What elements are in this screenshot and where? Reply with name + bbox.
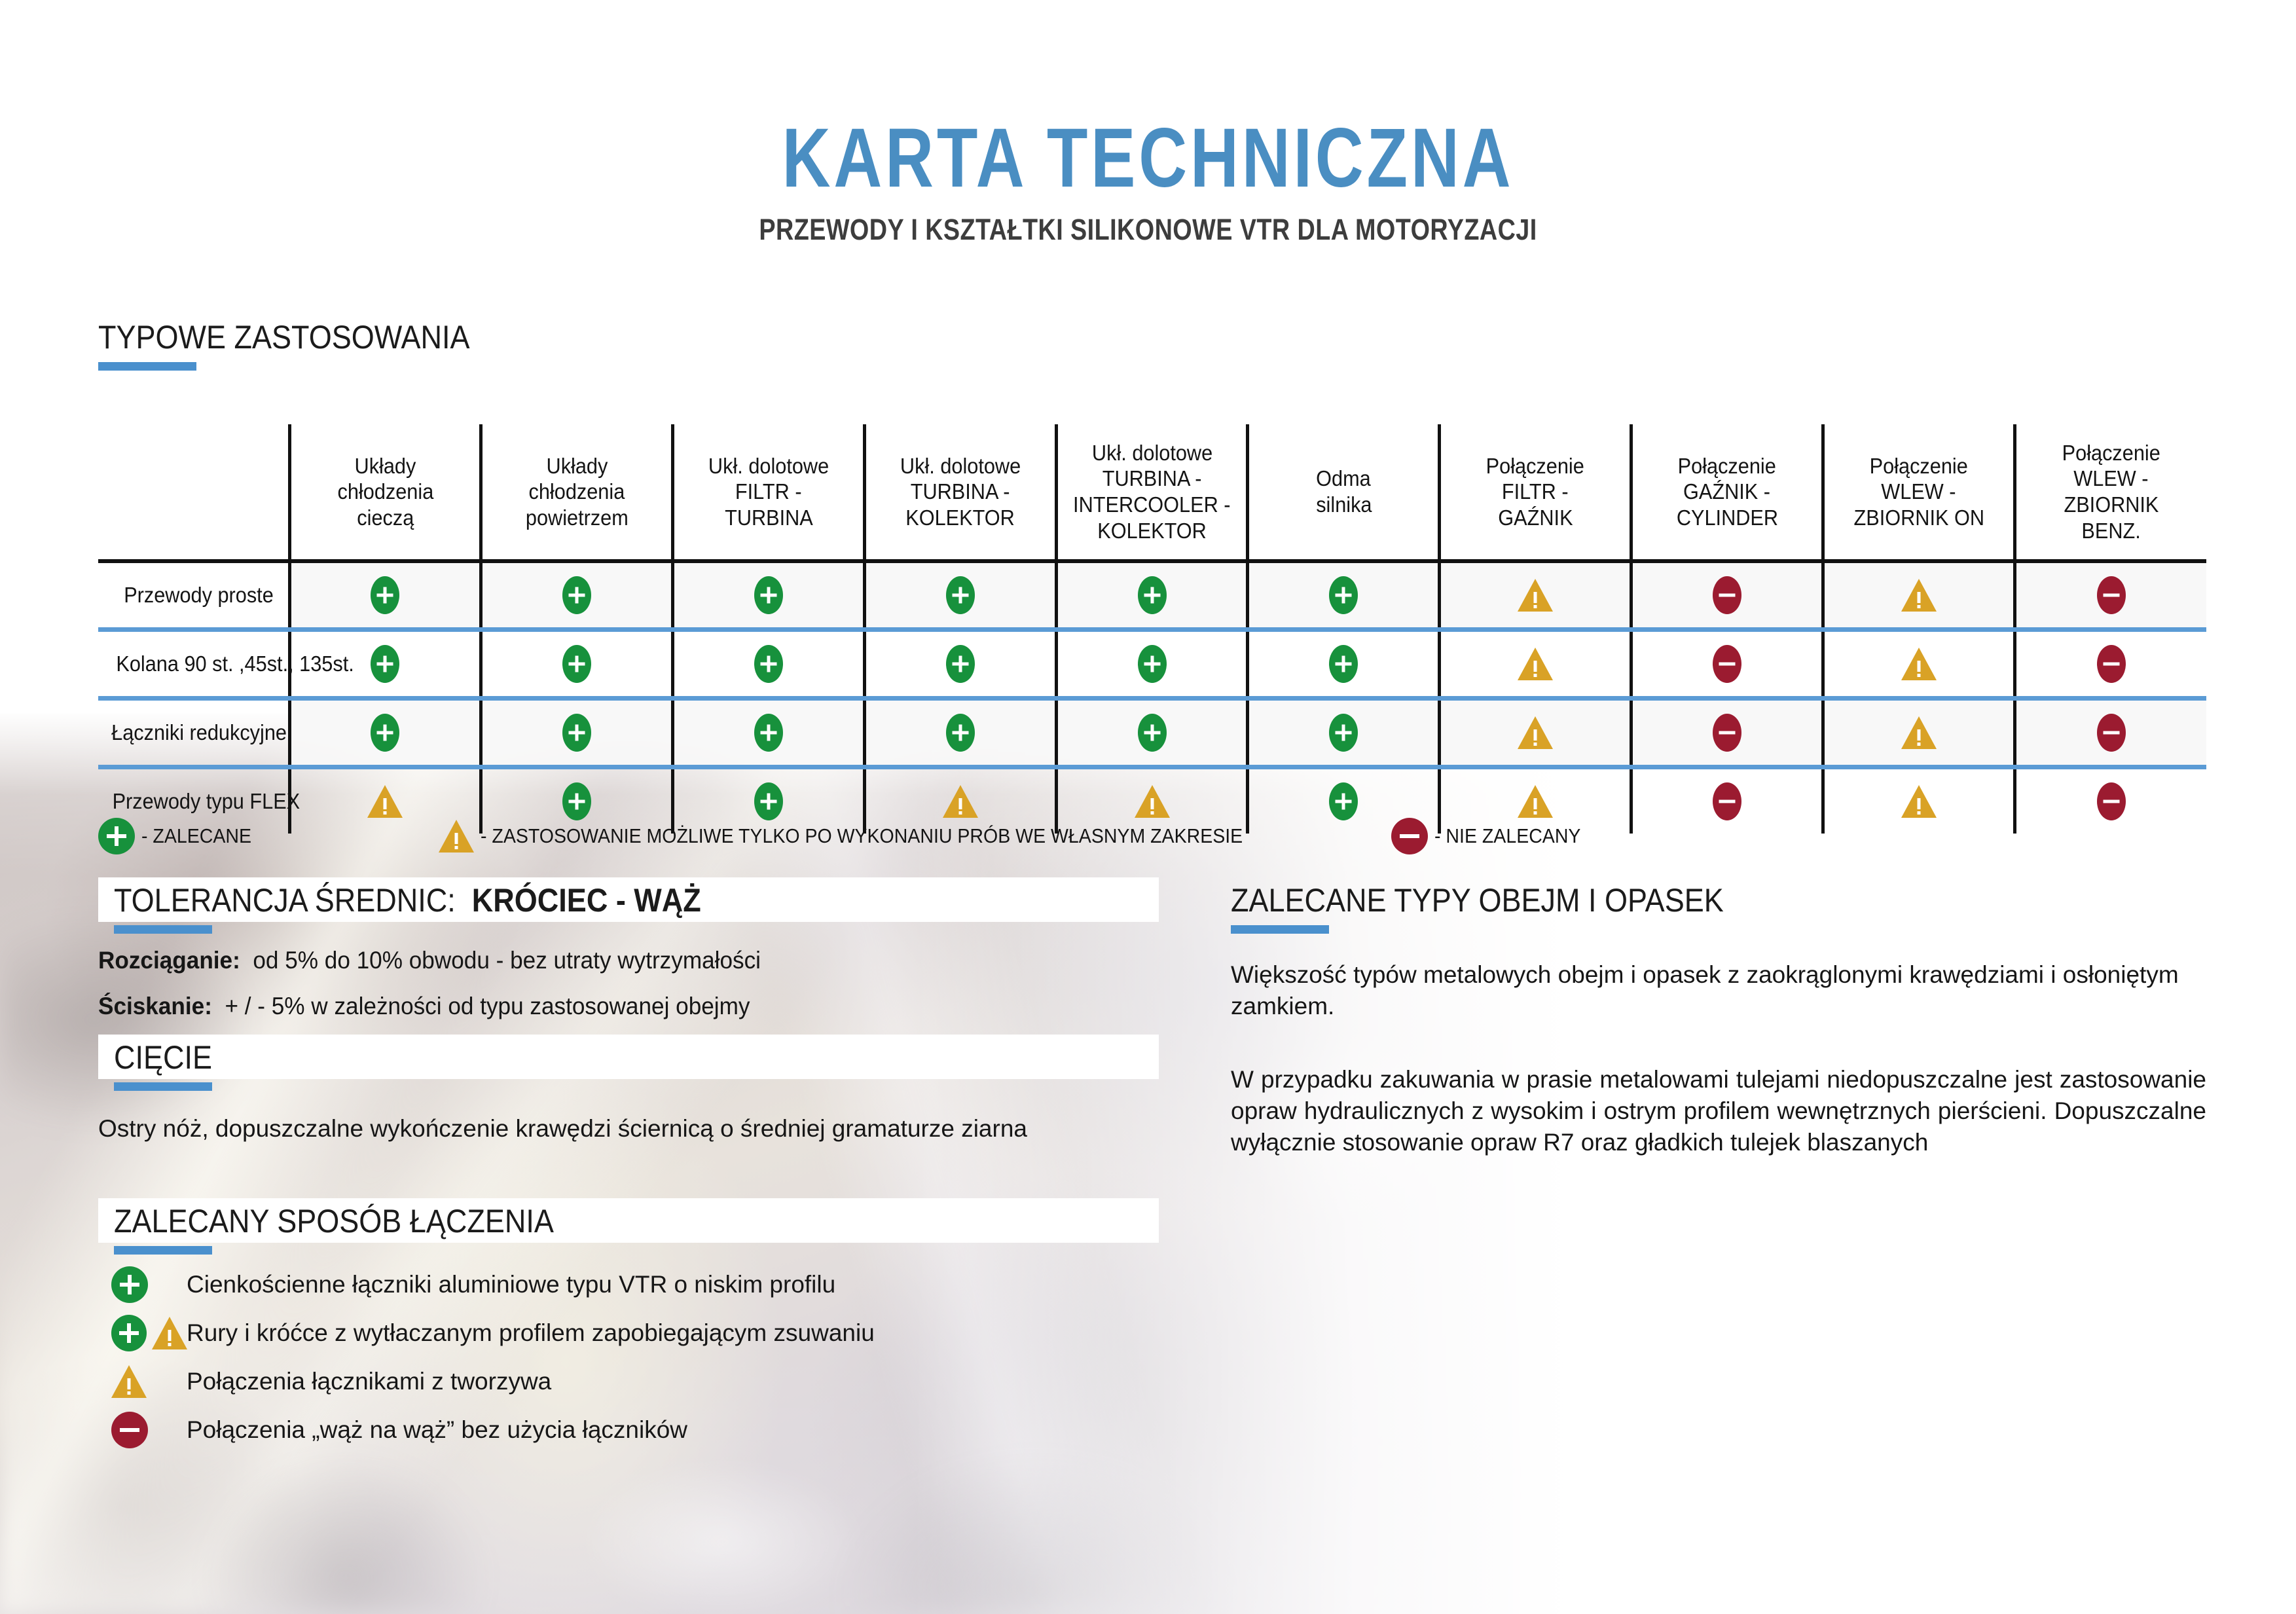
legend-label-recommended: - ZALECANE [141,824,251,848]
list-item-icons [98,1365,187,1398]
plus-icon [371,645,399,683]
minus-icon [1713,576,1741,614]
list-item-label: Rury i króćce z wytłaczanym profilem zap… [187,1319,875,1347]
plus-icon [111,1315,147,1351]
cutting-heading-text: CIĘCIE [114,1038,212,1076]
table-header-row: Układychłodzeniacieczą Układychłodzeniap… [98,424,2206,561]
clamps-heading-text: ZALECANE TYPY OBEJM I OPASEK [1231,881,1724,919]
plus-icon [1329,576,1358,614]
clamps-paragraph-2: W przypadku zakuwania w prasie metalowam… [1231,1064,2206,1158]
table-cell-status [2014,561,2206,630]
tolerance-compress-label: Ściskanie: [98,993,212,1019]
column-header-1: Układychłodzeniapowietrzem [481,424,673,561]
plus-icon [371,714,399,752]
table-cell-status [481,630,673,699]
table-cell-status [1248,561,1440,630]
list-item: Rury i króćce z wytłaczanym profilem zap… [98,1309,1211,1357]
column-header-8: PołączenieWLEW -ZBIORNIK ON [1823,424,2014,561]
table-cell-status [673,699,865,767]
table-cell-status [864,561,1056,630]
cutting-text: Ostry nóż, dopuszczalne wykończenie kraw… [98,1113,1152,1145]
column-header-7: PołączenieGAŹNIK -CYLINDER [1631,424,1823,561]
table-cell-status [1440,630,1631,699]
minus-icon [1391,818,1428,854]
list-item: Połączenia łącznikami z tworzywa [98,1357,1211,1406]
list-item: Połączenia „wąż na wąż” bez użycia łączn… [98,1406,1211,1454]
legend-item-not-recommended: - NIE ZALECANY [1391,813,1594,859]
table-cell-status [1631,699,1823,767]
plus-icon [754,714,783,752]
joining-methods-list: Cienkościenne łączniki aluminiowe typu V… [98,1260,1211,1454]
list-item-label: Połączenia łącznikami z tworzywa [187,1368,551,1395]
plus-icon [111,1266,148,1303]
plus-icon [946,714,975,752]
legend-item-recommended: - ZALECANE [98,813,261,859]
minus-icon [111,1412,148,1448]
warning-icon [1901,716,1937,749]
table-cell-status [1631,630,1823,699]
table-body: Przewody prosteKolana 90 st. ,45st., 135… [98,561,2206,834]
list-item-icons [98,1315,187,1351]
plus-icon [1138,714,1167,752]
column-header-4: Ukł. dolotoweTURBINA -INTERCOOLER -KOLEK… [1056,424,1248,561]
heading-band: ZALECANY SPOSÓB ŁĄCZENIA [98,1198,1159,1243]
warning-icon [111,1365,147,1398]
page-title: KARTA TECHNICZNA [230,117,2067,200]
table-cell-status [673,630,865,699]
section-heading-applications: TYPOWE ZASTOSOWANIA [98,314,511,371]
plus-icon [754,576,783,614]
plus-icon [946,576,975,614]
clamps-paragraph-1: Większość typów metalowych obejm i opase… [1231,959,2206,1022]
tolerance-stretch-line: Rozciąganie: od 5% do 10% obwodu - bez u… [98,945,1146,976]
table-cell-status [673,561,865,630]
heading-band: TYPOWE ZASTOSOWANIA [98,314,511,359]
list-item: Cienkościenne łączniki aluminiowe typu V… [98,1260,1211,1309]
heading-accent-rule [98,362,196,371]
table-cell-status [1248,699,1440,767]
tolerance-stretch-label: Rozciąganie: [98,947,240,974]
warning-icon [1518,648,1553,680]
plus-icon [562,576,591,614]
warning-icon [1518,716,1553,749]
table-row: Przewody proste [98,561,2206,630]
warning-icon [1901,648,1937,680]
section-heading-cutting: CIĘCIE [98,1035,1159,1091]
table-row: Łączniki redukcyjne [98,699,2206,767]
plus-icon [1329,645,1358,683]
list-item-label: Cienkościenne łączniki aluminiowe typu V… [187,1271,835,1298]
column-header-2: Ukł. dolotoweFILTR -TURBINA [673,424,865,561]
tolerance-heading-bold: KRÓCIEC - WĄŻ [472,882,701,919]
tolerance-heading-text: TOLERANCJA ŚREDNIC: KRÓCIEC - WĄŻ [114,881,701,919]
tolerance-heading-plain: TOLERANCJA ŚREDNIC: [114,882,456,919]
table-cell-status [1823,561,2014,630]
plus-icon [1329,714,1358,752]
row-header-label: Łączniki redukcyjne [98,699,289,767]
row-header-label: Przewody proste [98,561,289,630]
column-header-6: PołączenieFILTR -GAŹNIK [1440,424,1631,561]
applications-table-wrapper: Układychłodzeniacieczą Układychłodzeniap… [98,424,2206,834]
plus-icon [754,645,783,683]
table-cell-status [1823,699,2014,767]
table-row: Kolana 90 st. ,45st., 135st. [98,630,2206,699]
table-cell-status [1823,630,2014,699]
status-legend: - ZALECANE - ZASTOSOWANIE MOŻLIWE TYLKO … [98,813,2206,859]
minus-icon [2097,576,2126,614]
table-cell-status [481,561,673,630]
legend-item-conditional: - ZASTOSOWANIE MOŻLIWE TYLKO PO WYKONANI… [439,813,1309,859]
applications-heading-text: TYPOWE ZASTOSOWANIA [98,318,470,356]
section-heading-clamps: ZALECANE TYPY OBEJM I OPASEK [1231,877,2252,934]
minus-icon [1713,645,1741,683]
heading-band: CIĘCIE [98,1035,1159,1079]
heading-band: ZALECANE TYPY OBEJM I OPASEK [1231,877,2252,922]
table-cell-status [1056,561,1248,630]
table-cell-status [289,561,481,630]
warning-icon [152,1317,187,1349]
table-cell-status [2014,630,2206,699]
legend-label-conditional: - ZASTOSOWANIE MOŻLIWE TYLKO PO WYKONANI… [481,824,1243,848]
plus-icon [562,645,591,683]
list-item-icons [98,1266,187,1303]
table-cell-status [1248,630,1440,699]
table-cell-status [1056,630,1248,699]
warning-icon [439,820,474,853]
tolerance-compress-line: Ściskanie: + / - 5% w zależności od typu… [98,991,1146,1022]
column-header-0: Układychłodzeniacieczą [289,424,481,561]
legend-label-not-recommended: - NIE ZALECANY [1434,824,1580,848]
warning-icon [1518,579,1553,612]
column-header-5: Odmasilnika [1248,424,1440,561]
minus-icon [2097,714,2126,752]
section-heading-tolerance: TOLERANCJA ŚREDNIC: KRÓCIEC - WĄŻ [98,877,1159,934]
plus-icon [562,714,591,752]
tolerance-stretch-value: od 5% do 10% obwodu - bez utraty wytrzym… [253,947,761,974]
minus-icon [1713,714,1741,752]
table-cell-status [1056,699,1248,767]
table-cell-status [289,699,481,767]
column-header-3: Ukł. dolotoweTURBINA -KOLEKTOR [864,424,1056,561]
table-cell-status [1440,699,1631,767]
plus-icon [1138,576,1167,614]
column-header-9: PołączenieWLEW -ZBIORNIKBENZ. [2014,424,2206,561]
table-cell-status [1631,561,1823,630]
row-header-label: Kolana 90 st. ,45st., 135st. [98,630,289,699]
applications-table: Układychłodzeniacieczą Układychłodzeniap… [98,424,2206,834]
heading-accent-rule [1231,925,1329,934]
table-header: Układychłodzeniacieczą Układychłodzeniap… [98,424,2206,561]
heading-accent-rule [114,1246,212,1255]
table-cell-status [2014,699,2206,767]
tolerance-compress-value: + / - 5% w zależności od typu zastosowan… [225,993,750,1019]
heading-accent-rule [114,1082,212,1091]
joining-heading-text: ZALECANY SPOSÓB ŁĄCZENIA [114,1202,554,1240]
table-cell-status [481,699,673,767]
table-cell-status [864,630,1056,699]
list-item-label: Połączenia „wąż na wąż” bez użycia łączn… [187,1416,687,1444]
heading-band: TOLERANCJA ŚREDNIC: KRÓCIEC - WĄŻ [98,877,1159,922]
table-cell-status [864,699,1056,767]
plus-icon [946,645,975,683]
plus-icon [98,818,135,854]
minus-icon [2097,645,2126,683]
datasheet-page: KARTA TECHNICZNA PRZEWODY I KSZTAŁTKI SI… [0,0,2296,1614]
plus-icon [1138,645,1167,683]
page-subtitle: PRZEWODY I KSZTAŁTKI SILIKONOWE VTR DLA … [184,213,2113,247]
section-heading-joining: ZALECANY SPOSÓB ŁĄCZENIA [98,1198,1159,1255]
plus-icon [371,576,399,614]
table-corner-cell [98,424,289,561]
warning-icon [1901,579,1937,612]
heading-accent-rule [114,925,212,934]
list-item-icons [98,1412,187,1448]
table-cell-status [1440,561,1631,630]
